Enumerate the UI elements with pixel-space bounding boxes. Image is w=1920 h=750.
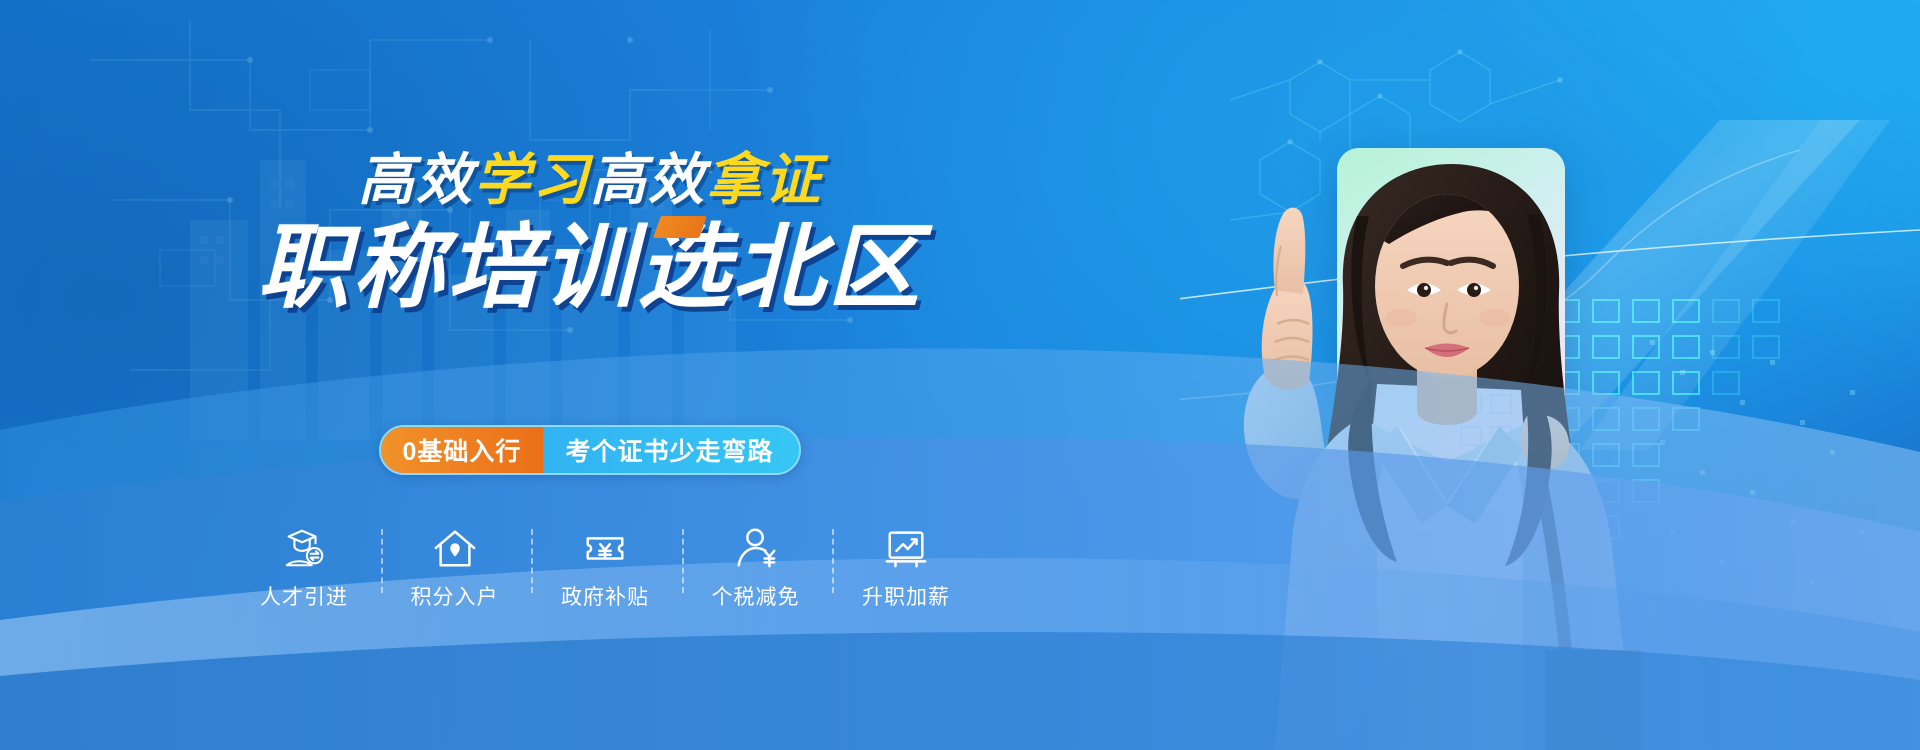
orange-slash-accent xyxy=(653,216,707,238)
feature-item-residency[interactable]: 积分入户 xyxy=(391,525,519,611)
headline-block: 高效学习高效拿证 职称培训选北区 xyxy=(0,152,1180,317)
chart-board-icon xyxy=(883,525,929,571)
feature-list: 人才引进 积分入户 xyxy=(240,525,970,611)
promo-banner: 高效学习高效拿证 职称培训选北区 0基础入行 考个证书少走弯路 xyxy=(0,0,1920,750)
feature-item-tax[interactable]: 个税减免 xyxy=(692,525,820,611)
house-pin-icon xyxy=(432,525,478,571)
feature-label: 积分入户 xyxy=(411,581,499,611)
feature-item-talent[interactable]: 人才引进 xyxy=(240,525,368,611)
headline-main-text: 职称培训选北区 xyxy=(257,217,922,319)
person-yuan-icon xyxy=(733,525,779,571)
feature-label: 个税减免 xyxy=(712,581,800,611)
tagline-pill: 0基础入行 考个证书少走弯路 xyxy=(379,425,802,475)
headline-seg-4: 拿证 xyxy=(706,148,822,211)
graduate-person-icon xyxy=(281,525,327,571)
banner-content: 高效学习高效拿证 职称培训选北区 0基础入行 考个证书少走弯路 xyxy=(0,0,1920,750)
tagline-block: 0基础入行 考个证书少走弯路 xyxy=(0,425,1180,475)
tagline-badge: 0基础入行 xyxy=(381,427,544,473)
headline-subtitle: 高效学习高效拿证 xyxy=(0,152,1180,208)
feature-item-subsidy[interactable]: 政府补贴 xyxy=(541,525,669,611)
feature-label: 政府补贴 xyxy=(561,581,649,611)
feature-item-promotion[interactable]: 升职加薪 xyxy=(842,525,970,611)
headline-main: 职称培训选北区 xyxy=(257,220,922,317)
feature-label: 人才引进 xyxy=(260,581,348,611)
headline-seg-2: 学习 xyxy=(474,148,590,211)
tagline-text: 考个证书少走弯路 xyxy=(543,427,799,473)
ticket-yuan-icon xyxy=(582,525,628,571)
headline-seg-1: 高效 xyxy=(358,148,474,211)
feature-label: 升职加薪 xyxy=(862,581,950,611)
headline-seg-3: 高效 xyxy=(590,148,706,211)
